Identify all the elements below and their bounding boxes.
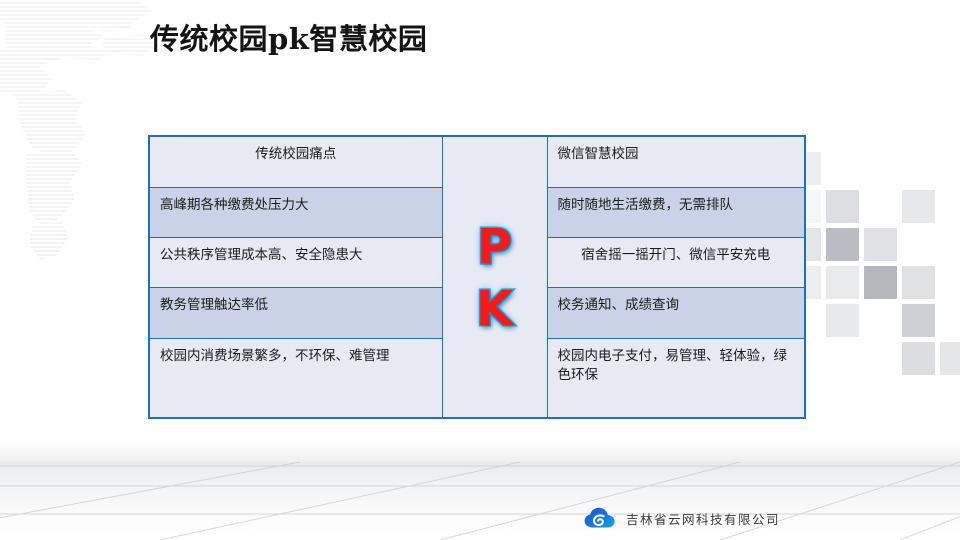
header-cell-left: 传统校园痛点: [149, 136, 442, 187]
header-cell-right: 微信智慧校园: [547, 136, 805, 187]
floor-grid-lines: [0, 444, 960, 540]
benefit-cell: 随时随地生活缴费，无需排队: [547, 187, 805, 237]
benefit-cell: 校务通知、成绩查询: [547, 288, 805, 338]
company-name: 吉林省云网科技有限公司: [626, 509, 780, 528]
mosaic-squares-decoration: [780, 150, 960, 390]
floor-horizon: [0, 444, 960, 462]
table-row-header: 传统校园痛点 P K 微信智慧校园: [149, 136, 805, 187]
pain-point-cell: 公共秩序管理成本高、安全隐患大: [149, 238, 442, 288]
cloud-swirl-icon: [584, 506, 616, 530]
benefit-cell: 校园内电子支付，易管理、轻体验，绿色环保: [547, 338, 805, 418]
benefit-cell: 宿舍摇一摇开门、微信平安充电: [547, 238, 805, 288]
pk-letter-p: P: [477, 223, 512, 271]
pk-letter-k: K: [476, 285, 513, 333]
pk-badge-cell: P K: [442, 136, 547, 418]
pain-point-cell: 教务管理触达率低: [149, 288, 442, 338]
pk-badge: P K: [453, 145, 537, 411]
pain-point-cell: 高峰期各种缴费处压力大: [149, 187, 442, 237]
comparison-table-wrap: 传统校园痛点 P K 微信智慧校园 高峰期各种缴费处压力大 随时随地生活缴费，无…: [148, 135, 806, 419]
page-title: 传统校园pk智慧校园: [150, 16, 427, 58]
comparison-table: 传统校园痛点 P K 微信智慧校园 高峰期各种缴费处压力大 随时随地生活缴费，无…: [148, 135, 806, 419]
slide-canvas: 传统校园pk智慧校园 传统校园痛点 P K 微信智慧校园: [0, 0, 960, 540]
footer-branding: 吉林省云网科技有限公司: [584, 506, 780, 530]
floor-surface: [0, 462, 960, 540]
pain-point-cell: 校园内消费场景繁多，不环保、难管理: [149, 338, 442, 418]
